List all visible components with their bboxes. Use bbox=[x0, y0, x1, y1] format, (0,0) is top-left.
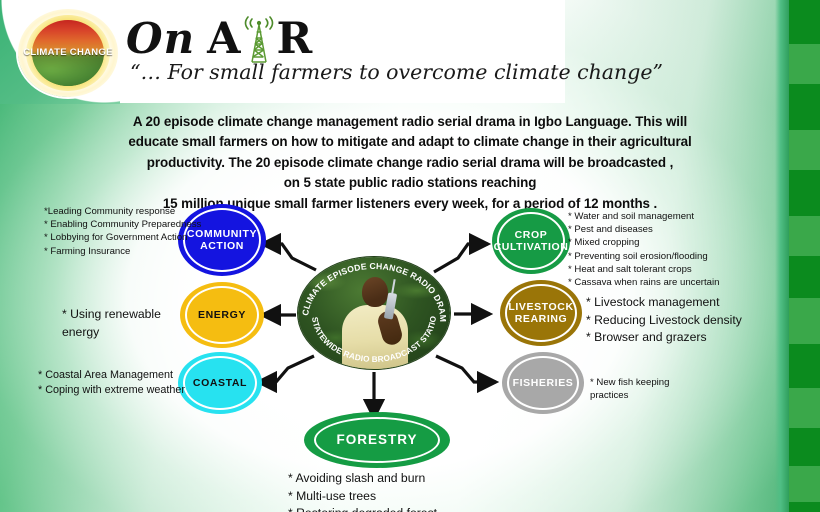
right-decorative-strip bbox=[775, 0, 820, 512]
strip-block bbox=[789, 256, 820, 298]
bullet-line: * Water and soil management bbox=[568, 210, 719, 223]
bullets-forestry: * Avoiding slash and burn* Multi-use tre… bbox=[288, 470, 437, 512]
node-ring bbox=[183, 356, 257, 410]
node-ring bbox=[314, 417, 440, 463]
title-letter-r: R bbox=[277, 18, 313, 61]
radio-tower-icon bbox=[242, 14, 276, 64]
radio-drama-diagram: 20 CLIMATE EPISODE CHANGE RADIO DRAMA 5 … bbox=[0, 196, 780, 512]
bullet-line: practices bbox=[590, 389, 669, 402]
title-word-on: On bbox=[126, 18, 195, 60]
intro-line-4: on 5 state public radio stations reachin… bbox=[72, 173, 748, 193]
bullet-line: * Browser and grazers bbox=[586, 329, 742, 347]
node-fisheries[interactable]: FISHERIES bbox=[502, 352, 584, 414]
node-livestock-rearing[interactable]: LIVESTOCK REARING bbox=[500, 280, 582, 346]
strip-block bbox=[789, 388, 820, 428]
bullet-line: * Farming Insurance bbox=[44, 245, 201, 258]
strip-block bbox=[789, 130, 820, 170]
node-ring bbox=[505, 284, 577, 342]
node-forestry[interactable]: FORESTRY bbox=[304, 412, 450, 468]
strip-block bbox=[789, 44, 820, 84]
intro-line-2: educate small farmers on how to mitigate… bbox=[72, 132, 748, 152]
bullet-line: * Using renewable bbox=[62, 306, 161, 324]
node-crop-cultivation[interactable]: CROP CULTIVATION bbox=[492, 208, 570, 274]
strip-block bbox=[789, 216, 820, 256]
bullet-line: * Cassava when rains are uncertain bbox=[568, 276, 719, 289]
strip-block bbox=[789, 170, 820, 216]
strip-block bbox=[789, 298, 820, 344]
bullet-line: * Coping with extreme weather bbox=[38, 383, 185, 398]
bullet-line: * Mixed cropping bbox=[568, 236, 719, 249]
bullet-line: * New fish keeping bbox=[590, 376, 669, 389]
bullets-community-action: *Leading Community response* Enabling Co… bbox=[44, 205, 201, 258]
node-ring bbox=[497, 212, 565, 270]
bullet-line: * Avoiding slash and burn bbox=[288, 470, 437, 488]
bullets-livestock-rearing: * Livestock management* Reducing Livesto… bbox=[586, 294, 742, 347]
strip-block bbox=[789, 466, 820, 502]
node-ring bbox=[507, 356, 579, 410]
bullet-line: *Leading Community response bbox=[44, 205, 201, 218]
bullets-coastal: * Coastal Area Management* Coping with e… bbox=[38, 368, 185, 399]
strip-block bbox=[789, 344, 820, 388]
bullet-line: * Multi-use trees bbox=[288, 488, 437, 506]
bullets-fisheries: * New fish keepingpractices bbox=[590, 376, 669, 402]
bullet-line: * Pest and diseases bbox=[568, 223, 719, 236]
bullet-line: * Livestock management bbox=[586, 294, 742, 312]
bullet-line: energy bbox=[62, 324, 161, 342]
central-hub-photo: 20 CLIMATE EPISODE CHANGE RADIO DRAMA 5 … bbox=[298, 257, 450, 369]
bullet-line: * Restoring degraded forest bbox=[288, 505, 437, 512]
strip-block bbox=[789, 428, 820, 466]
intro-line-3: productivity. The 20 episode climate cha… bbox=[72, 153, 748, 173]
bullet-line: * Coastal Area Management bbox=[38, 368, 185, 383]
title-letter-a: A bbox=[207, 18, 240, 61]
bullet-line: * Lobbying for Government Action bbox=[44, 231, 201, 244]
intro-line-1: A 20 episode climate change management r… bbox=[72, 112, 748, 132]
bullets-crop-cultivation: * Water and soil management* Pest and di… bbox=[568, 210, 719, 289]
node-coastal[interactable]: COASTAL bbox=[178, 352, 262, 414]
node-energy[interactable]: ENERGY bbox=[180, 282, 264, 348]
strip-block bbox=[789, 84, 820, 130]
slide-canvas: CLIMATE CHANGE On A bbox=[0, 0, 820, 512]
on-air-title: On A bbox=[126, 13, 312, 65]
bullet-line: * Reducing Livestock density bbox=[586, 312, 742, 330]
bullet-line: * Enabling Community Preparedness bbox=[44, 218, 201, 231]
climate-change-logo: CLIMATE CHANGE bbox=[18, 9, 118, 97]
bullets-energy: * Using renewableenergy bbox=[62, 306, 161, 341]
strip-block bbox=[789, 502, 820, 512]
strip-blocks bbox=[789, 0, 820, 512]
bullet-line: * Heat and salt tolerant crops bbox=[568, 263, 719, 276]
strip-block bbox=[789, 0, 820, 44]
bullet-line: * Preventing soil erosion/flooding bbox=[568, 250, 719, 263]
node-ring bbox=[185, 286, 259, 344]
logo-badge-text: CLIMATE CHANGE bbox=[22, 47, 114, 58]
tagline: “… For small farmers to overcome climate… bbox=[130, 60, 663, 84]
hub-person-head bbox=[362, 277, 388, 307]
